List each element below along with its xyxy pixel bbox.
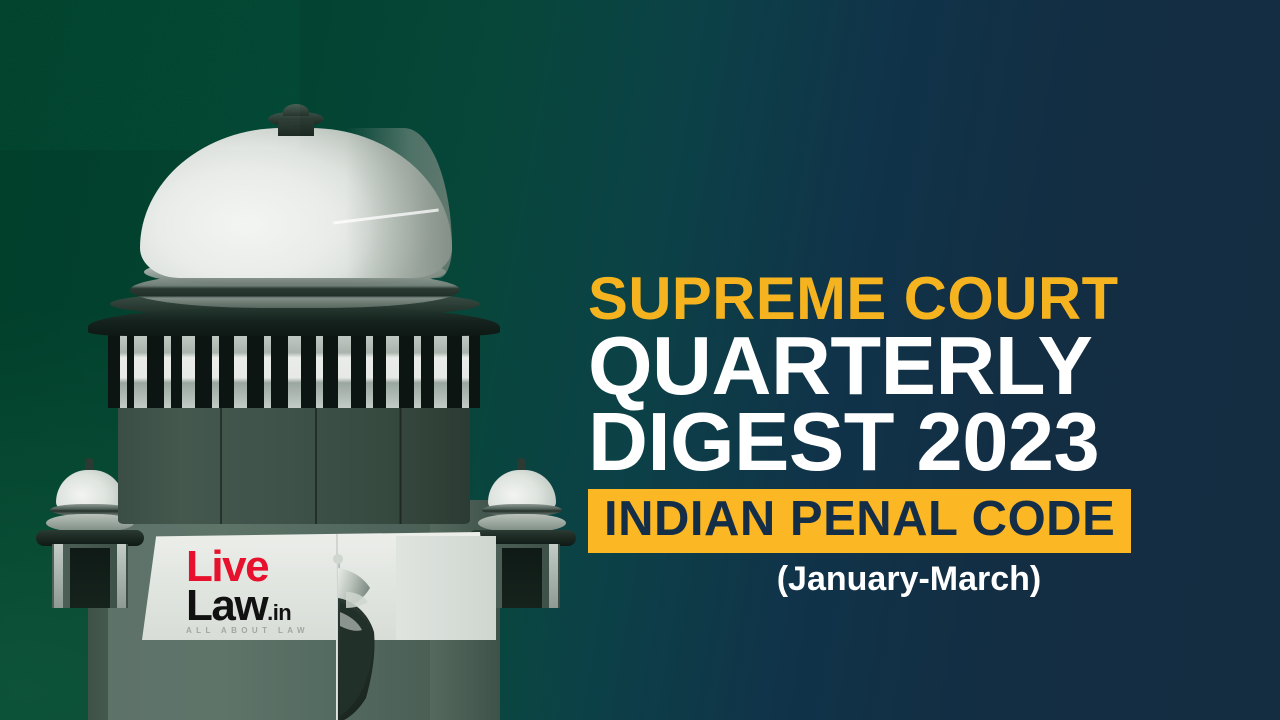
- chhatri-dome: [488, 470, 556, 508]
- building-colonnade: [108, 324, 480, 408]
- logo-word-law: Law.in: [186, 586, 336, 626]
- colonnade-pillar: [386, 324, 399, 408]
- chhatri-post-right: [549, 544, 558, 608]
- dome-finial-neck: [278, 120, 314, 136]
- period-label: (January-March): [588, 560, 1230, 599]
- colonnade-pillar: [338, 324, 351, 408]
- logo-word-law-text: Law: [186, 581, 267, 630]
- poster-canvas: Live Law.in ALL ABOUT LAW: [0, 0, 1280, 720]
- eyebrow-supreme-court: SUPREME COURT: [588, 270, 1245, 328]
- colonnade-pillar: [120, 324, 127, 408]
- subject-banner: INDIAN PENAL CODE: [588, 489, 1131, 553]
- colonnade-pillar: [164, 324, 171, 408]
- logo-domain-suffix: .in: [267, 600, 291, 625]
- chhatri-opening: [70, 548, 110, 608]
- building-drum-wall: [118, 396, 470, 524]
- indian-flag: [316, 558, 436, 720]
- title-line-quarterly: QUARTERLY: [588, 328, 1248, 404]
- dome-finial-icon: [283, 104, 309, 116]
- logo-tagline: ALL ABOUT LAW: [186, 626, 336, 635]
- colonnade-pillar: [212, 324, 219, 408]
- colonnade-pillar: [182, 324, 195, 408]
- colonnade-pillar: [316, 324, 323, 408]
- colonnade-pillar: [234, 324, 247, 408]
- subject-banner-label: INDIAN PENAL CODE: [604, 495, 1115, 544]
- flag-cloth-icon: [316, 558, 436, 720]
- supreme-court-dome: [140, 128, 452, 278]
- title-line-digest-2023: DIGEST 2023: [588, 404, 1248, 480]
- colonnade-pillar: [288, 324, 301, 408]
- livelaw-logo[interactable]: Live Law.in ALL ABOUT LAW: [186, 548, 336, 635]
- chhatri-opening: [502, 548, 542, 608]
- headline-block: SUPREME COURT QUARTERLY DIGEST 2023 INDI…: [588, 270, 1248, 599]
- colonnade-pillar: [264, 324, 271, 408]
- colonnade-pillar: [462, 324, 469, 408]
- colonnade-pillar: [366, 324, 373, 408]
- dome-shading: [346, 128, 452, 278]
- chhatri-post-right: [117, 544, 126, 608]
- colonnade-pillar: [134, 324, 147, 408]
- chhatri-post-left: [54, 544, 63, 608]
- chhatri-dome: [56, 470, 124, 508]
- colonnade-pillar: [414, 324, 421, 408]
- colonnade-pillar: [434, 324, 447, 408]
